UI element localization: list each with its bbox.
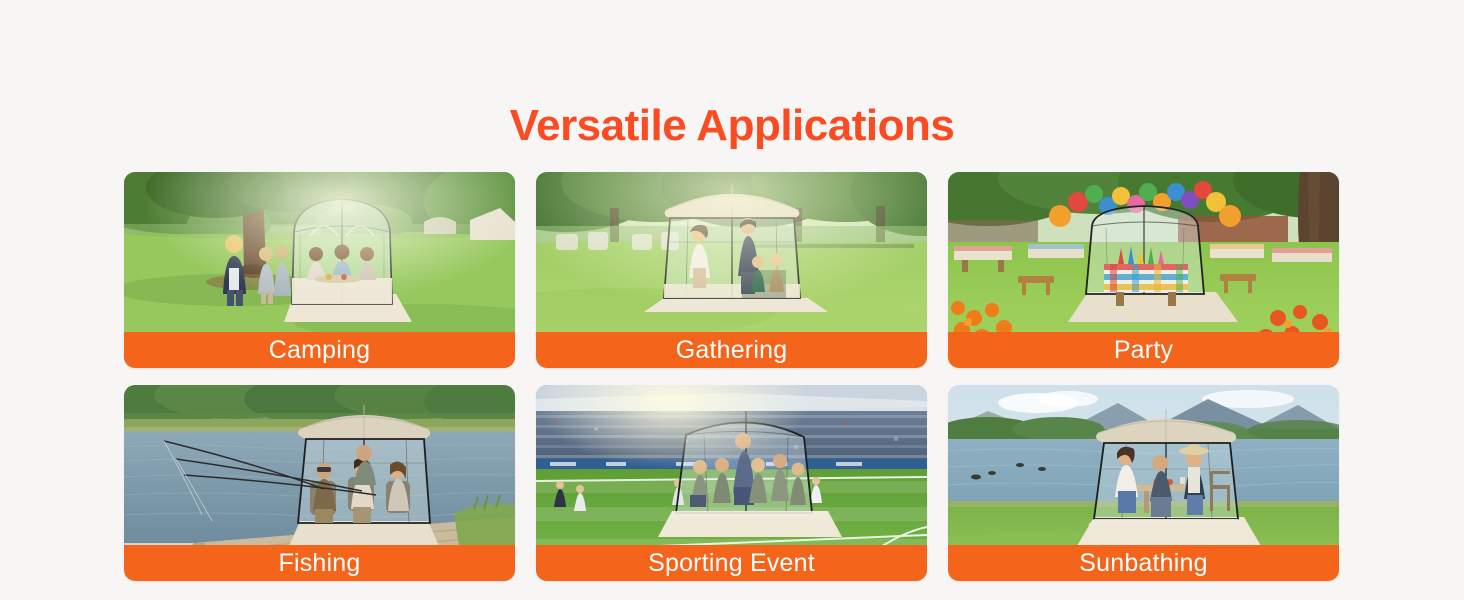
application-card-camping[interactable]: Camping — [124, 172, 515, 368]
card-label-bar-party: Party — [948, 332, 1339, 368]
card-label-bar-sporting-event: Sporting Event — [536, 545, 927, 581]
card-label-party: Party — [1114, 335, 1173, 365]
card-label-camping: Camping — [269, 335, 370, 365]
page-title: Versatile Applications — [0, 100, 1464, 152]
card-label-fishing: Fishing — [279, 548, 361, 578]
application-card-sporting-event[interactable]: Sporting Event — [536, 385, 927, 581]
application-card-fishing[interactable]: Fishing — [124, 385, 515, 581]
card-label-gathering: Gathering — [676, 335, 788, 365]
card-label-bar-sunbathing: Sunbathing — [948, 545, 1339, 581]
card-label-sunbathing: Sunbathing — [1079, 548, 1208, 578]
card-label-bar-gathering: Gathering — [536, 332, 927, 368]
card-label-bar-camping: Camping — [124, 332, 515, 368]
card-label-sporting-event: Sporting Event — [648, 548, 815, 578]
applications-grid: Camping — [124, 172, 1340, 580]
versatile-applications-section: Versatile Applications — [0, 0, 1464, 600]
application-card-sunbathing[interactable]: Sunbathing — [948, 385, 1339, 581]
card-label-bar-fishing: Fishing — [124, 545, 515, 581]
application-card-party[interactable]: Party — [948, 172, 1339, 368]
application-card-gathering[interactable]: Gathering — [536, 172, 927, 368]
